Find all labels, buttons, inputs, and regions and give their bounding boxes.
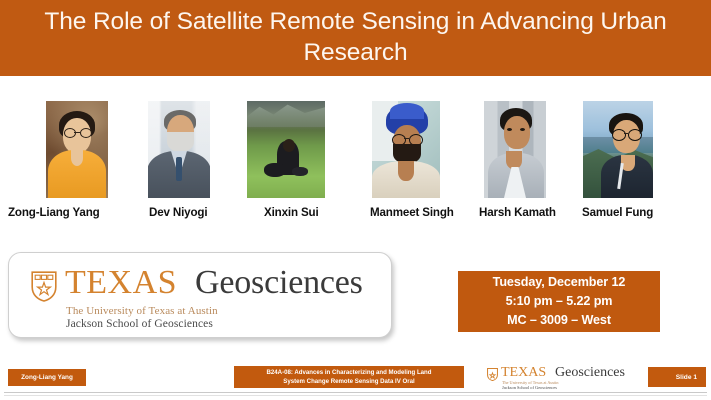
headshot-photo [372, 101, 440, 198]
footer-logo-geosciences-word: Geosciences [555, 366, 625, 380]
person-name: Zong-Liang Yang [8, 206, 100, 219]
person-name: Samuel Fung [582, 206, 653, 219]
footer-logo-school-line: Jackson School of Geosciences [502, 385, 557, 390]
headshot-photo [46, 101, 108, 198]
people-row: Zong-Liang Yang Dev Niyogi [0, 88, 711, 223]
session-time: 5:10 pm – 5.22 pm [506, 292, 613, 311]
person-name: Dev Niyogi [149, 206, 207, 219]
slide-number-label: Slide 1 [676, 374, 706, 381]
footer-logo-texas-word: TEXAS [501, 366, 546, 380]
session-details-box: Tuesday, December 12 5:10 pm – 5.22 pm M… [458, 271, 660, 332]
footer-speaker-badge: Zong-Liang Yang [8, 369, 86, 386]
page-title: The Role of Satellite Remote Sensing in … [26, 7, 686, 69]
headshot-photo [247, 101, 325, 198]
headshot-photo [148, 101, 210, 198]
ut-shield-crest-icon [31, 271, 57, 302]
footer-session-line-1: B24A-08: Advances in Characterizing and … [266, 368, 431, 377]
title-banner: The Role of Satellite Remote Sensing in … [0, 0, 711, 76]
logo-school-line: Jackson School of Geosciences [66, 318, 213, 330]
slide-number-badge: Slide 1 [648, 367, 706, 387]
headshot-photo [484, 101, 546, 198]
logo-geosciences-word: Geosciences [195, 266, 363, 300]
ut-shield-crest-icon [487, 368, 498, 381]
footer-divider-secondary [4, 395, 707, 396]
footer-logo: TEXAS Geosciences The University of Texa… [487, 366, 627, 388]
headshot-photo [583, 101, 653, 198]
session-room: MC – 3009 – West [507, 311, 611, 330]
session-date: Tuesday, December 12 [493, 273, 626, 292]
footer-session-line-2: System Change Remote Sensing Data IV Ora… [283, 377, 414, 386]
footer-session-badge: B24A-08: Advances in Characterizing and … [234, 366, 464, 388]
footer-speaker-label: Zong-Liang Yang [21, 374, 73, 381]
presentation-slide: The Role of Satellite Remote Sensing in … [0, 0, 711, 400]
logo-university-line: The University of Texas at Austin [66, 305, 218, 317]
person-name: Harsh Kamath [479, 206, 556, 219]
logo-texas-word: TEXAS [65, 266, 177, 300]
person-name: Xinxin Sui [264, 206, 319, 219]
ut-geosciences-logo-card: TEXAS Geosciences The University of Texa… [8, 252, 392, 338]
footer-divider [4, 392, 707, 393]
person-name: Manmeet Singh [370, 206, 454, 219]
